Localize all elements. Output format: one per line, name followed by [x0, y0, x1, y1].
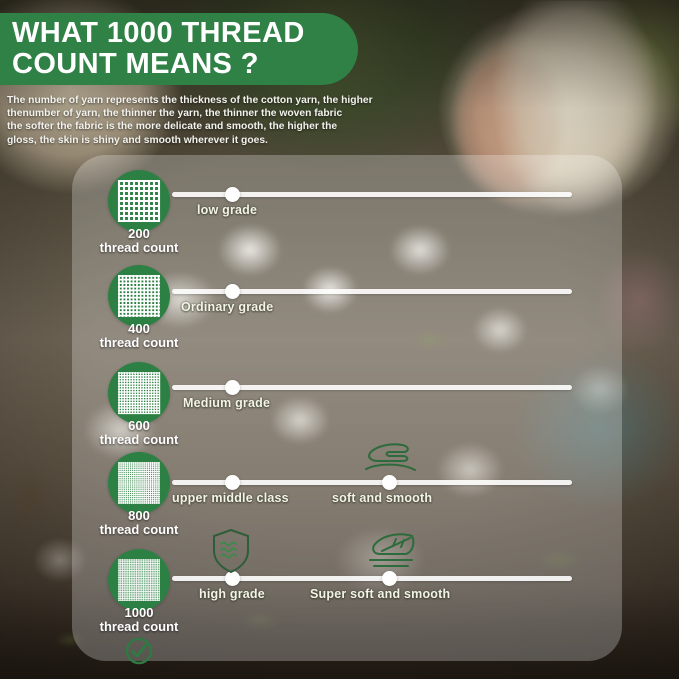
- grade-label-upper-middle: upper middle class: [172, 491, 289, 505]
- page-title: WHAT 1000 THREAD COUNT MEANS ?: [12, 18, 305, 80]
- connector-dot-2-grade: [225, 284, 240, 299]
- mesh-grid-icon: [117, 461, 161, 505]
- infographic-stage: WHAT 1000 THREAD COUNT MEANS ? The numbe…: [0, 0, 679, 679]
- thread-circle-800: [108, 452, 170, 514]
- connector-dot-3-grade: [225, 380, 240, 395]
- thread-count-label-1000: 1000 thread count: [79, 606, 199, 634]
- thread-count-label-400: 400 thread count: [79, 322, 199, 350]
- connector-dot-1-grade: [225, 187, 240, 202]
- thread-count-label-200: 200 thread count: [79, 227, 199, 255]
- shield-waves-icon: [209, 527, 253, 575]
- check-circle-icon: [124, 636, 154, 666]
- intro-paragraph: The number of yarn represents the thickn…: [7, 94, 387, 147]
- grade-label-medium: Medium grade: [183, 396, 270, 410]
- smoothing-hand-icon: [360, 440, 422, 480]
- thread-circle-400: [108, 265, 170, 327]
- feature-label-super-soft: Super soft and smooth: [310, 587, 450, 601]
- mesh-grid-icon: [117, 558, 161, 602]
- thread-circle-600: [108, 362, 170, 424]
- grade-label-low: low grade: [197, 203, 257, 217]
- connector-dot-4-grade: [225, 475, 240, 490]
- grade-label-high: high grade: [199, 587, 265, 601]
- thread-circle-200: [108, 170, 170, 232]
- thread-circle-1000: [108, 549, 170, 611]
- mesh-grid-icon: [117, 371, 161, 415]
- feature-label-soft-smooth: soft and smooth: [332, 491, 432, 505]
- feather-icon: [360, 530, 422, 574]
- header-banner: WHAT 1000 THREAD COUNT MEANS ?: [0, 13, 358, 85]
- grade-label-ordinary: Ordinary grade: [181, 300, 273, 314]
- thread-count-label-800: 800 thread count: [79, 509, 199, 537]
- mesh-grid-icon: [117, 274, 161, 318]
- mesh-grid-icon: [117, 179, 161, 223]
- thread-count-label-600: 600 thread count: [79, 419, 199, 447]
